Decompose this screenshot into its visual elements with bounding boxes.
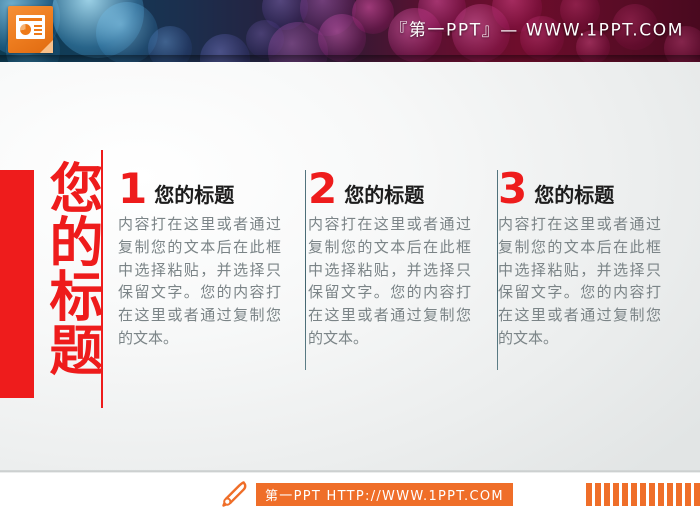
- page-title: 您的标题: [42, 160, 100, 405]
- logo-document-bar: [19, 18, 42, 21]
- bokeh-circle: [262, 0, 308, 30]
- column-header: 1 您的标题: [118, 165, 283, 209]
- column-title: 您的标题: [154, 184, 234, 209]
- bokeh-circle: [96, 2, 158, 62]
- column-divider-1: [305, 170, 306, 370]
- logo-text-line: [34, 25, 42, 27]
- content-column-3: 3 您的标题 内容打在这里或者通过复制您的文本后在此框中选择粘贴，并选择只保留文…: [498, 165, 663, 350]
- left-vertical-rule: [101, 150, 103, 408]
- columns-container: 1 您的标题 内容打在这里或者通过复制您的文本后在此框中选择粘贴，并选择只保留文…: [118, 165, 688, 380]
- footer-url-bar: 第一PPT HTTP://WWW.1PPT.COM: [256, 483, 513, 506]
- column-number: 3: [498, 170, 527, 209]
- slide-canvas: 『第一PPT』— WWW.1PPT.COM 您的标题 1 您的标题 内容打在这里…: [0, 0, 700, 525]
- column-title: 您的标题: [344, 184, 424, 209]
- column-body-text: 内容打在这里或者通过复制您的文本后在此框中选择粘贴，并选择只保留文字。您的内容打…: [118, 213, 281, 350]
- bokeh-circle: [246, 20, 284, 58]
- footer-stripes: [586, 483, 700, 506]
- logo-text-line: [34, 33, 42, 35]
- logo-text-line: [34, 29, 42, 31]
- column-title: 您的标题: [534, 184, 614, 209]
- bokeh-circle: [352, 0, 394, 34]
- logo-page-fold: [40, 40, 53, 53]
- header-banner: 『第一PPT』— WWW.1PPT.COM: [0, 0, 700, 62]
- logo-document: [16, 15, 45, 39]
- column-body-text: 内容打在这里或者通过复制您的文本后在此框中选择粘贴，并选择只保留文字。您的内容打…: [308, 213, 471, 350]
- column-number: 1: [118, 170, 147, 209]
- footer-url-text: 第一PPT HTTP://WWW.1PPT.COM: [265, 485, 504, 504]
- banner-title: 『第一PPT』— WWW.1PPT.COM: [390, 16, 684, 41]
- bokeh-circle: [300, 0, 356, 36]
- column-number: 2: [308, 170, 337, 209]
- column-body-text: 内容打在这里或者通过复制您的文本后在此框中选择粘贴，并选择只保留文字。您的内容打…: [498, 213, 661, 350]
- footer: 第一PPT HTTP://WWW.1PPT.COM: [0, 478, 700, 512]
- logo-pie-chart: [20, 24, 31, 35]
- column-header: 3 您的标题: [498, 165, 663, 209]
- column-header: 2 您的标题: [308, 165, 473, 209]
- column-divider-2: [497, 170, 498, 370]
- banner-shadow: [0, 55, 700, 62]
- bokeh-circle: [52, 0, 144, 58]
- content-column-1: 1 您的标题 内容打在这里或者通过复制您的文本后在此框中选择粘贴，并选择只保留文…: [118, 165, 283, 350]
- powerpoint-logo-icon: [8, 6, 53, 53]
- content-column-2: 2 您的标题 内容打在这里或者通过复制您的文本后在此框中选择粘贴，并选择只保留文…: [308, 165, 473, 350]
- pencil-icon: [219, 479, 251, 511]
- left-accent-block: [0, 170, 34, 398]
